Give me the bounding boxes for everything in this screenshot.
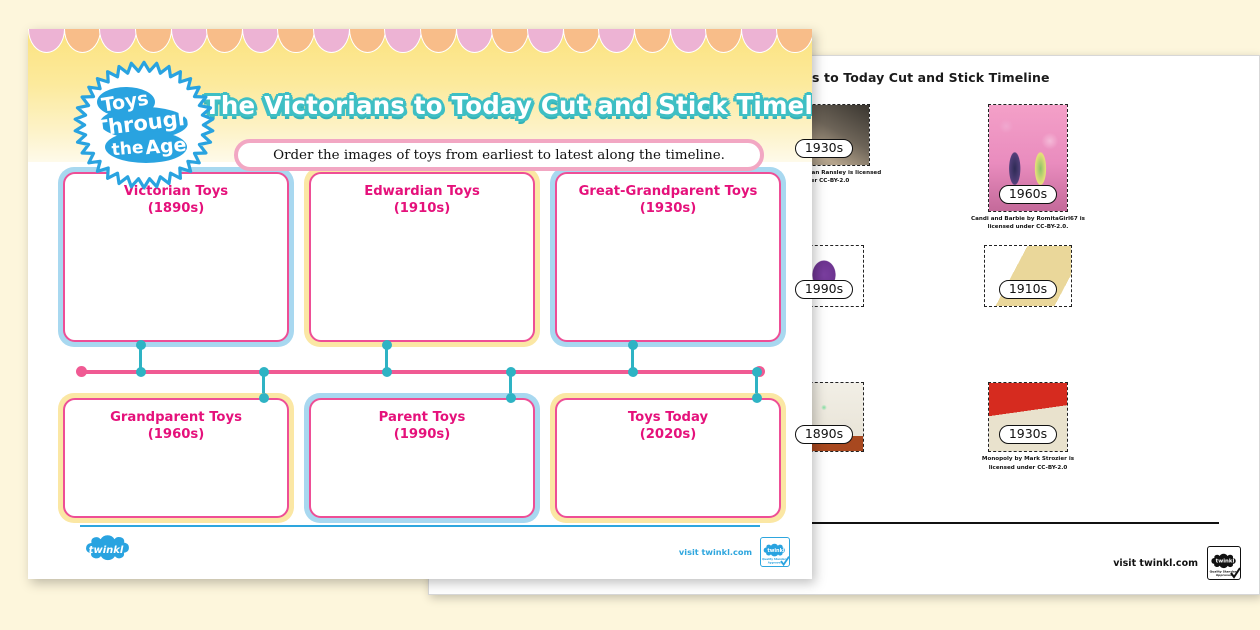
timeline-node-card: [628, 340, 638, 350]
decade-label: 1930s: [999, 425, 1057, 444]
visit-twinkl-link[interactable]: visit twinkl.com: [679, 547, 752, 557]
timeline-node-card: [506, 393, 516, 403]
twinkl-quality-badge-icon: twinkl Quality Standard Approved: [760, 537, 790, 567]
svg-text:twinkl: twinkl: [89, 545, 124, 556]
card-inner: Parent Toys (1990s): [309, 398, 535, 518]
decade-label: 1960s: [999, 185, 1057, 204]
twinkl-logo[interactable]: twinkl: [82, 531, 130, 565]
instruction-banner: Order the images of toys from earliest t…: [234, 139, 764, 171]
worksheet-page-1[interactable]: Toys Through the Ages The Victorians to …: [28, 29, 812, 579]
card-inner: Great-Grandparent Toys (1930s): [555, 172, 781, 342]
card-label: Great-Grandparent Toys: [557, 183, 779, 200]
timeline-card-edwardian[interactable]: Edwardian Toys (1910s): [304, 167, 540, 347]
toy-photo-monopoly[interactable]: 1930s: [988, 382, 1068, 452]
card-inner: Edwardian Toys (1910s): [309, 172, 535, 342]
image-credit: Candi and Barbie by RomitaGirl67 is lice…: [968, 215, 1088, 231]
card-decade: (2020s): [557, 426, 779, 443]
card-decade: (1930s): [557, 200, 779, 217]
page2-footer: visit twinkl.com twinkl Quality Standard…: [1113, 546, 1241, 580]
image-credit: Monopoly by Mark Strozier is licensed un…: [968, 455, 1088, 471]
page-title: The Victorians to Today Cut and Stick Ti…: [204, 91, 804, 120]
card-decade: (1960s): [65, 426, 287, 443]
timeline-node: [259, 367, 269, 377]
cut-out-card[interactable]: 1910s: [948, 245, 1108, 310]
page1-footer-divider: [80, 525, 760, 527]
cut-out-card[interactable]: 1960s Candi and Barbie by RomitaGirl67 i…: [948, 104, 1108, 231]
visit-twinkl-link[interactable]: visit twinkl.com: [1113, 558, 1198, 569]
card-inner: Grandparent Toys (1960s): [63, 398, 289, 518]
twinkl-quality-badge-icon: twinkl Quality Standard Approved: [1207, 546, 1241, 580]
cut-out-card[interactable]: 1930s Monopoly by Mark Strozier is licen…: [948, 382, 1108, 471]
timeline-node-card: [136, 340, 146, 350]
svg-text:twinkl: twinkl: [1216, 559, 1235, 565]
timeline-node: [752, 367, 762, 377]
timeline-card-today[interactable]: Toys Today (2020s): [550, 393, 786, 523]
decade-label: 1910s: [999, 280, 1057, 299]
timeline-node: [506, 367, 516, 377]
timeline-node: [136, 367, 146, 377]
timeline-card-parent[interactable]: Parent Toys (1990s): [304, 393, 540, 523]
card-decade: (1910s): [311, 200, 533, 217]
timeline-node: [382, 367, 392, 377]
timeline-card-victorian[interactable]: Victorian Toys (1890s): [58, 167, 294, 347]
card-label: Toys Today: [557, 409, 779, 426]
timeline-card-great-grandparent[interactable]: Great-Grandparent Toys (1930s): [550, 167, 786, 347]
screenshot-stage: ...ugh the Ages: The Victorians to Today…: [0, 0, 1260, 630]
timeline-node: [628, 367, 638, 377]
card-decade: (1990s): [311, 426, 533, 443]
badge-line-3: the: [111, 138, 144, 161]
page1-footer: visit twinkl.com twinkl Quality Standard…: [679, 537, 790, 567]
svg-text:Approved: Approved: [768, 561, 783, 565]
card-label: Edwardian Toys: [311, 183, 533, 200]
timeline-card-grandparent[interactable]: Grandparent Toys (1960s): [58, 393, 294, 523]
card-decade: (1890s): [65, 200, 287, 217]
timeline-node-card: [752, 393, 762, 403]
badge-line-4: Ages: [144, 133, 198, 159]
instruction-text: Order the images of toys from earliest t…: [273, 148, 725, 163]
svg-text:Approved: Approved: [1216, 573, 1232, 577]
toys-through-the-ages-badge: Toys Through the Ages: [70, 59, 218, 191]
card-label: Grandparent Toys: [65, 409, 287, 426]
toy-photo-marbles[interactable]: 1910s: [984, 245, 1072, 307]
card-inner: Toys Today (2020s): [555, 398, 781, 518]
card-label: Parent Toys: [311, 409, 533, 426]
timeline-node-card: [382, 340, 392, 350]
svg-text:twinkl: twinkl: [767, 548, 785, 554]
card-inner: Victorian Toys (1890s): [63, 172, 289, 342]
toy-photo-barbie-dolls[interactable]: 1960s: [988, 104, 1068, 212]
timeline-node-card: [259, 393, 269, 403]
